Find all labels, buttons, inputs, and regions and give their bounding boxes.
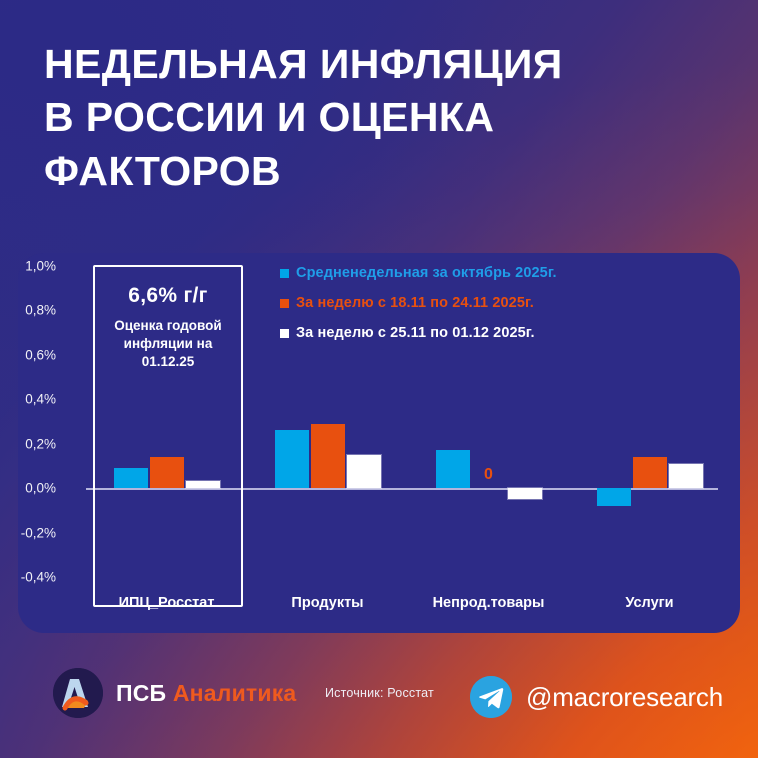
- telegram-icon[interactable]: [470, 676, 512, 718]
- title-line-3: ФАКТОРОВ: [44, 145, 734, 198]
- psb-logo-icon: [53, 668, 103, 718]
- psb-analytics-logo: ПСБ Аналитика: [53, 668, 296, 718]
- bar[interactable]: [114, 468, 148, 488]
- page-title: НЕДЕЛЬНАЯ ИНФЛЯЦИЯ В РОССИИ И ОЦЕНКА ФАК…: [44, 38, 734, 198]
- bar[interactable]: [633, 457, 667, 488]
- bar[interactable]: [669, 464, 703, 488]
- chart-panel: 1,0%0,8%0,6%0,4%0,2%0,0%-0,2%-0,4% 6,6% …: [18, 253, 740, 633]
- y-axis-tick-label: 0,6%: [0, 347, 56, 362]
- bar[interactable]: [311, 424, 345, 488]
- bar-group: 0Непрод.товары: [408, 253, 569, 633]
- bar-group: ИПЦ_Росстат: [86, 253, 247, 633]
- bar-zero-label: 0: [484, 466, 493, 484]
- source-note: Источник: Росстат: [325, 686, 434, 700]
- x-axis-category-label: ИПЦ_Росстат: [119, 595, 215, 611]
- telegram-handle[interactable]: @macroresearch: [526, 682, 723, 713]
- y-axis-tick-label: 0,8%: [0, 303, 56, 318]
- y-axis-tick-label: 0,2%: [0, 436, 56, 451]
- title-line-1: НЕДЕЛЬНАЯ ИНФЛЯЦИЯ: [44, 38, 734, 91]
- y-axis-tick-label: -0,4%: [0, 570, 56, 585]
- bar[interactable]: [508, 488, 542, 499]
- bar[interactable]: [275, 430, 309, 488]
- bar[interactable]: [436, 450, 470, 488]
- logo-wordmark: ПСБ Аналитика: [116, 680, 296, 707]
- infographic-poster: НЕДЕЛЬНАЯ ИНФЛЯЦИЯ В РОССИИ И ОЦЕНКА ФАК…: [0, 0, 758, 758]
- y-axis-tick-label: 1,0%: [0, 259, 56, 274]
- bar-group: Продукты: [247, 253, 408, 633]
- bar[interactable]: [150, 457, 184, 488]
- bar[interactable]: [597, 488, 631, 506]
- chart-plot-area: 1,0%0,8%0,6%0,4%0,2%0,0%-0,2%-0,4% 6,6% …: [18, 253, 740, 633]
- bar[interactable]: [186, 481, 220, 488]
- x-axis-category-label: Непрод.товары: [433, 595, 545, 611]
- y-axis-tick-label: -0,2%: [0, 525, 56, 540]
- bar[interactable]: [347, 455, 381, 488]
- y-axis-tick-label: 0,0%: [0, 481, 56, 496]
- logo-text-psb: ПСБ: [116, 680, 173, 706]
- chart-bar-groups: ИПЦ_РосстатПродукты0Непрод.товарыУслуги: [86, 253, 730, 633]
- title-line-2: В РОССИИ И ОЦЕНКА: [44, 91, 734, 144]
- x-axis-category-label: Продукты: [291, 595, 363, 611]
- y-axis-tick-label: 0,4%: [0, 392, 56, 407]
- bar-group: Услуги: [569, 253, 730, 633]
- telegram-link[interactable]: @macroresearch: [470, 676, 723, 718]
- logo-text-analytics: Аналитика: [173, 680, 297, 706]
- x-axis-category-label: Услуги: [625, 595, 673, 611]
